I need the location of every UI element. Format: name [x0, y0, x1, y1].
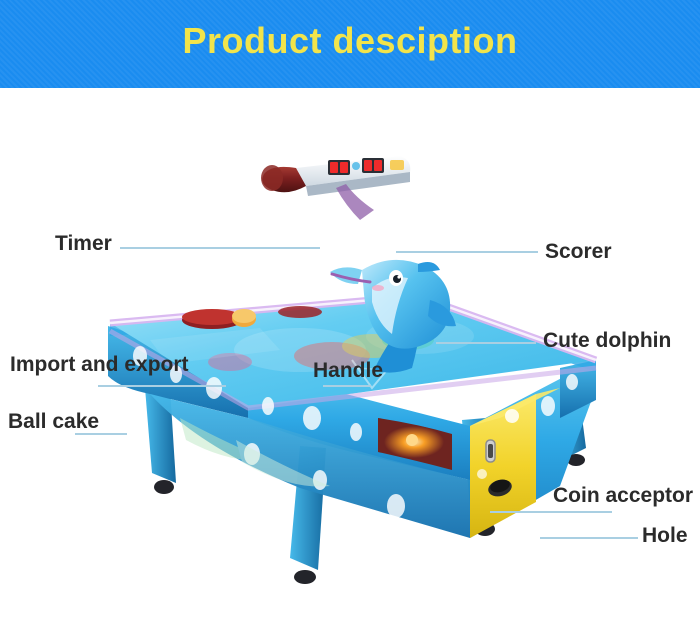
leader-line-handle	[323, 385, 371, 387]
product-photo-area: Timer Scorer Cute dolphin Import and exp…	[0, 88, 700, 637]
callout-label-scorer: Scorer	[545, 240, 612, 264]
callout-label-ball-cake: Ball cake	[8, 410, 99, 434]
product-description-page: Product desciption	[0, 0, 700, 637]
callout-label-hole: Hole	[642, 524, 688, 548]
leader-line-hole	[540, 537, 638, 539]
header-banner: Product desciption	[0, 0, 700, 88]
leader-line-scorer	[396, 251, 538, 253]
callout-label-handle: Handle	[313, 359, 383, 383]
leader-line-coin-acceptor	[490, 511, 612, 513]
callout-label-cute-dolphin: Cute dolphin	[543, 329, 671, 353]
page-title: Product desciption	[0, 20, 700, 62]
scoreboard-assembly	[261, 156, 410, 220]
callout-label-coin-acceptor: Coin acceptor	[553, 484, 693, 508]
leader-line-timer	[120, 247, 320, 249]
callout-label-import-and-export: Import and export	[10, 353, 189, 377]
leader-line-import-and-export	[98, 385, 226, 387]
callout-label-timer: Timer	[55, 232, 112, 256]
leader-line-cute-dolphin	[436, 342, 536, 344]
